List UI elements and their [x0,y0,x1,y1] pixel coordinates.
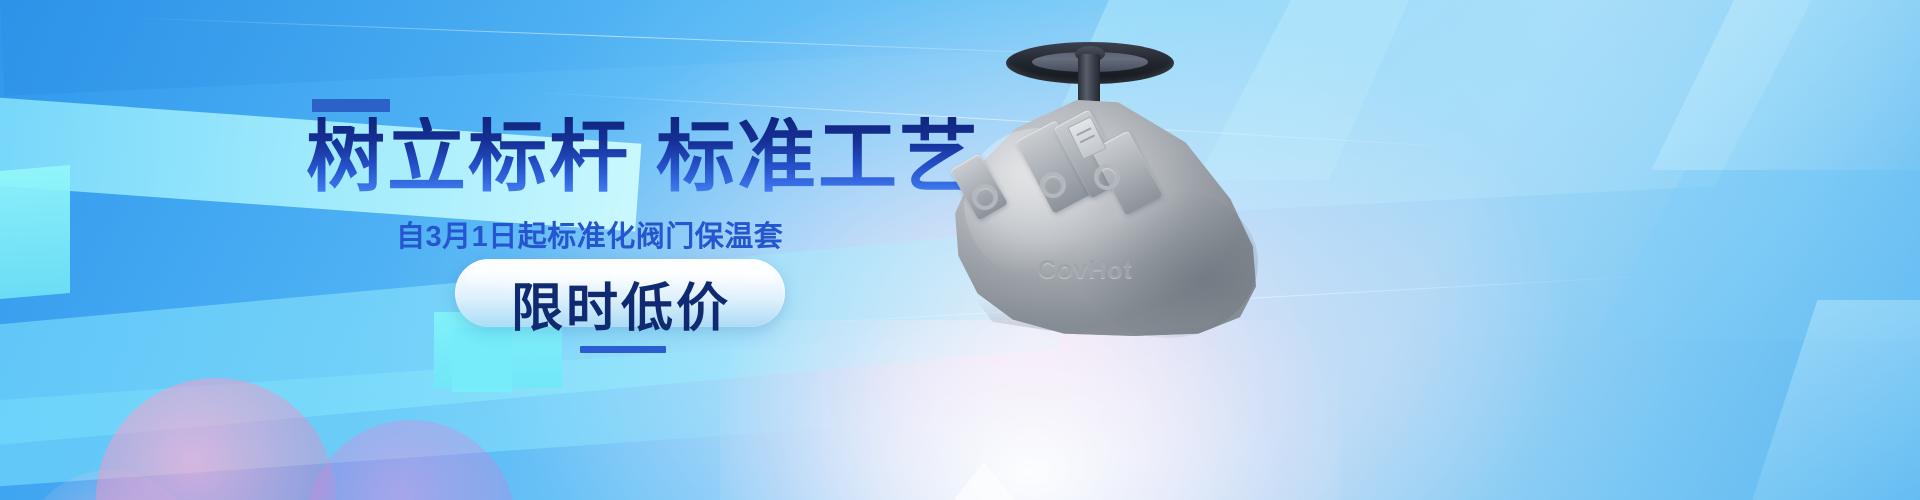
banner-subtitle: 自3月1日起标准化阀门保温套 [396,213,783,255]
headline-segment-1: 树立标杆 [306,112,630,201]
product-brand-watermark: CovHot [1038,256,1133,285]
promo-banner: 树立标杆标准工艺 自3月1日起标准化阀门保温套 限时低价 CovHot [0,0,1920,500]
jacket-buckle-3 [1094,164,1120,190]
jacket-buckle-1 [972,184,998,210]
decor-band-far-right-bottom [1743,300,1920,500]
banner-copy: 树立标杆标准工艺 自3月1日起标准化阀门保温套 限时低价 [0,0,960,500]
headline-accent-bar [312,99,390,112]
cta-underline-bar [580,346,666,353]
banner-headline: 树立标杆标准工艺 [306,117,980,196]
jacket-buckle-2 [1040,172,1066,198]
product-image-valve-jacket: CovHot [928,8,1288,368]
decor-band-far-right-top [1651,0,1920,170]
decor-band-far-right-mid [1595,170,1920,340]
cta-pill-label[interactable]: 限时低价 [509,266,733,341]
